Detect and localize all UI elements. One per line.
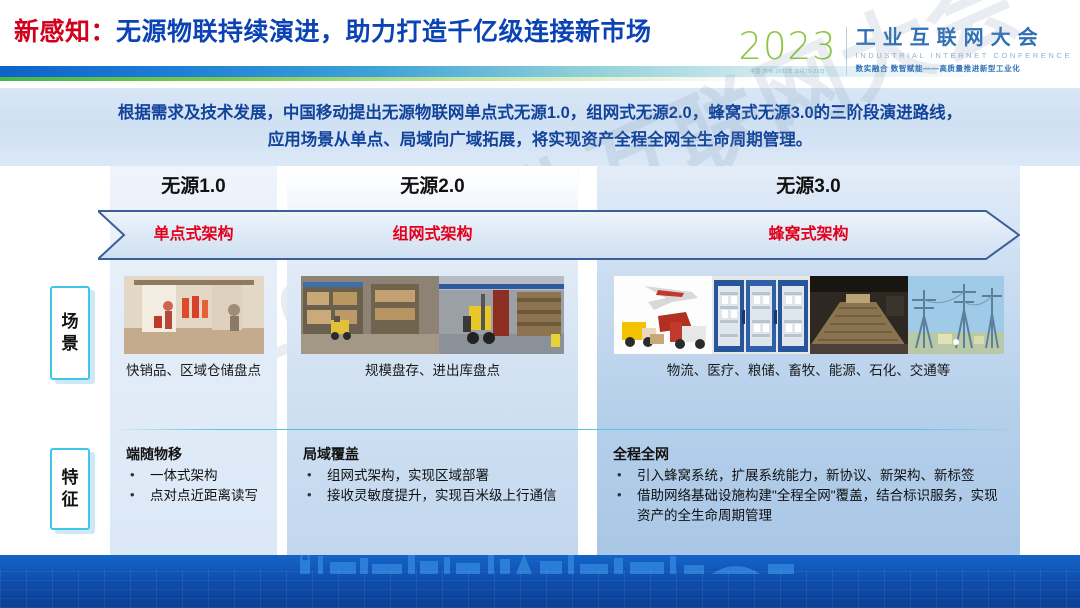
evolution-matrix: 无源1.0 无源2.0 无源3.0 单点式架构 组网式架构 蜂窝式架构 <box>0 166 1080 556</box>
logistics-transport-photo <box>614 276 712 354</box>
row-label-feature: 特 征 <box>50 448 90 530</box>
scene-caption-1: 快销品、区域仓储盘点 <box>110 361 277 380</box>
power-grid-photo <box>908 276 1004 354</box>
feature-cell-2: 局域覆盖 组网式架构，实现区域部署 接收灵敏度提升，实现百米级上行通信 <box>287 434 578 556</box>
scene-photos-2 <box>301 276 564 354</box>
scene-row: 快销品、区域仓储盘点 <box>0 268 1080 430</box>
stage-title-2: 无源2.0 <box>287 172 578 202</box>
row-label-feature-char-1: 特 <box>62 467 79 489</box>
scene-caption-3: 物流、医疗、粮储、畜牧、能源、石化、交通等 <box>597 361 1020 380</box>
feature-title-1: 端随物移 <box>126 444 265 464</box>
header-gradient-rule-green <box>0 77 760 81</box>
slide-header: 新感知：无源物联持续演进，助力打造千亿级连接新市场 2023 中国·苏州 202… <box>0 0 1080 88</box>
logo-conference-name: 工业互联网大会 <box>856 28 1072 48</box>
feature-row: 端随物移 一体式架构 点对点近距离读写 局域覆盖 组网式架构，实现区域部署 接收… <box>0 434 1080 556</box>
feature-item: 组网式架构，实现区域部署 <box>303 466 566 486</box>
feature-item: 借助网络基础设施构建"全程全网"覆盖，结合标识服务，实现资产的全生命周期管理 <box>613 486 1008 526</box>
logo-divider <box>846 27 847 75</box>
feature-cell-3: 全程全网 引入蜂窝系统，扩展系统能力，新协议、新架构、新标签 借助网络基础设施构… <box>597 434 1020 556</box>
stage-title-1: 无源1.0 <box>110 172 277 202</box>
row-label-feature-char-2: 征 <box>62 489 79 511</box>
scene-feature-divider <box>110 429 1020 430</box>
scene-cell-1: 快销品、区域仓储盘点 <box>110 268 277 430</box>
scene-cell-2: 规模盘存、进出库盘点 <box>287 268 578 430</box>
retail-store-photo <box>124 276 264 354</box>
page-title-prefix: 新感知： <box>14 18 116 46</box>
logo-year: 2023 <box>738 28 836 65</box>
feature-list-3: 引入蜂窝系统，扩展系统能力，新协议、新架构、新标签 借助网络基础设施构建"全程全… <box>613 466 1008 526</box>
feature-title-3: 全程全网 <box>613 444 1008 464</box>
grain-storage-photo <box>810 276 908 354</box>
summary-banner-line-1: 根据需求及技术发展，中国移动提出无源物联网单点式无源1.0，组网式无源2.0，蜂… <box>118 100 962 127</box>
row-label-scene-char-2: 景 <box>62 333 79 355</box>
feature-item: 点对点近距离读写 <box>126 486 265 506</box>
architecture-label-2: 组网式架构 <box>287 210 578 260</box>
scene-caption-2: 规模盘存、进出库盘点 <box>287 361 578 380</box>
page-title: 新感知：无源物联持续演进，助力打造千亿级连接新市场 <box>14 12 652 48</box>
feature-item: 引入蜂窝系统，扩展系统能力，新协议、新架构、新标签 <box>613 466 1008 486</box>
feature-item: 接收灵敏度提升，实现百米级上行通信 <box>303 486 566 506</box>
feature-list-1: 一体式架构 点对点近距离读写 <box>126 466 265 506</box>
page-title-main: 无源物联持续演进，助力打造千亿级连接新市场 <box>116 18 652 46</box>
warehouse-shelving-photo <box>301 276 439 354</box>
feature-list-2: 组网式架构，实现区域部署 接收灵敏度提升，实现百米级上行通信 <box>303 466 566 506</box>
feature-item: 一体式架构 <box>126 466 265 486</box>
slide-footer <box>0 555 1080 608</box>
row-label-scene-char-1: 场 <box>62 311 79 333</box>
logo-conference-name-en: INDUSTRIAL INTERNET CONFERENCE <box>856 51 1072 60</box>
row-label-scene: 场 景 <box>50 286 90 380</box>
conference-logo: 2023 中国·苏州 2023年11月20-22日 工业互联网大会 INDUST… <box>738 22 1072 80</box>
architecture-label-1: 单点式架构 <box>110 210 277 260</box>
scene-cell-3: 物流、医疗、粮储、畜牧、能源、石化、交通等 <box>597 268 1020 430</box>
feature-cell-1: 端随物移 一体式架构 点对点近距离读写 <box>110 434 277 556</box>
scene-photos-3 <box>614 276 1004 354</box>
summary-banner: 根据需求及技术发展，中国移动提出无源物联网单点式无源1.0，组网式无源2.0，蜂… <box>0 88 1080 166</box>
scene-photos-1 <box>124 276 264 354</box>
feature-title-2: 局域覆盖 <box>303 444 566 464</box>
summary-banner-line-2: 应用场景从单点、局域向广域拓展，将实现资产全程全网全生命周期管理。 <box>268 127 813 154</box>
medical-cabinet-photo <box>712 276 810 354</box>
footer-grid-pattern <box>0 570 1080 608</box>
warehouse-forklift-photo <box>439 276 564 354</box>
logo-slogan: 数实融合 数智赋能——高质量推进新型工业化 <box>856 63 1072 74</box>
logo-year-subtitle: 中国·苏州 2023年11月20-22日 <box>750 68 825 75</box>
stage-title-3: 无源3.0 <box>597 172 1020 202</box>
architecture-label-3: 蜂窝式架构 <box>597 210 1020 260</box>
